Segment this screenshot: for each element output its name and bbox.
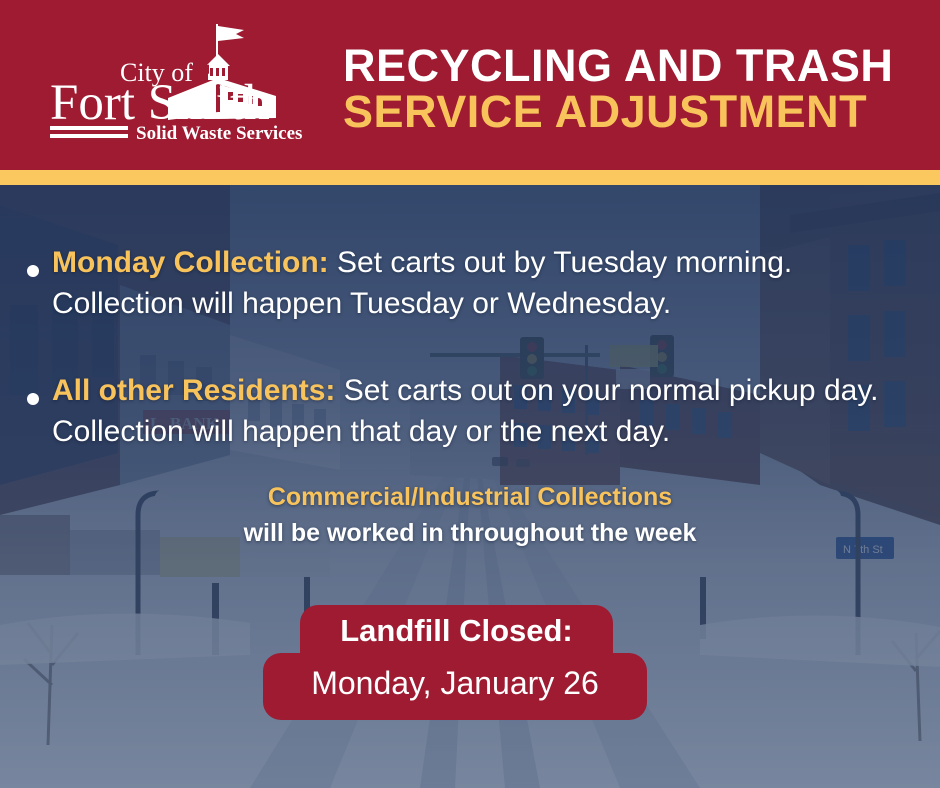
badge-date: Monday, January 26 (263, 665, 647, 702)
poster-body: Monday Collection: Set carts out by Tues… (0, 185, 940, 788)
bullet-dot-icon (27, 393, 39, 405)
bullet-text-residents: All other Residents: Set carts out on yo… (52, 371, 924, 453)
bullet-label-monday: Monday Collection: (52, 246, 329, 279)
bullet-dot-icon (27, 265, 39, 277)
bullet-text-monday: Monday Collection: Set carts out by Tues… (52, 243, 924, 325)
bullet-label-residents: All other Residents: (52, 374, 335, 407)
landfill-closed-badge: Landfill Closed: Monday, January 26 (255, 605, 665, 725)
poster-title: RECYCLING AND TRASH SERVICE ADJUSTMENT (343, 44, 893, 134)
poster-header: City of Fort Smith Solid Waste Services … (0, 0, 940, 170)
gold-divider-stripe (0, 170, 940, 185)
svg-text:Solid Waste Services: Solid Waste Services (136, 123, 302, 144)
badge-title: Landfill Closed: (300, 613, 613, 649)
commercial-collections-headline: Commercial/Industrial Collections (0, 483, 940, 512)
commercial-collections-subline: will be worked in throughout the week (0, 519, 940, 548)
service-adjustment-poster: City of Fort Smith Solid Waste Services … (0, 0, 940, 788)
title-line-1: RECYCLING AND TRASH (343, 44, 893, 88)
city-of-fort-smith-logo: City of Fort Smith Solid Waste Services (48, 22, 306, 144)
title-line-2: SERVICE ADJUSTMENT (343, 90, 893, 134)
